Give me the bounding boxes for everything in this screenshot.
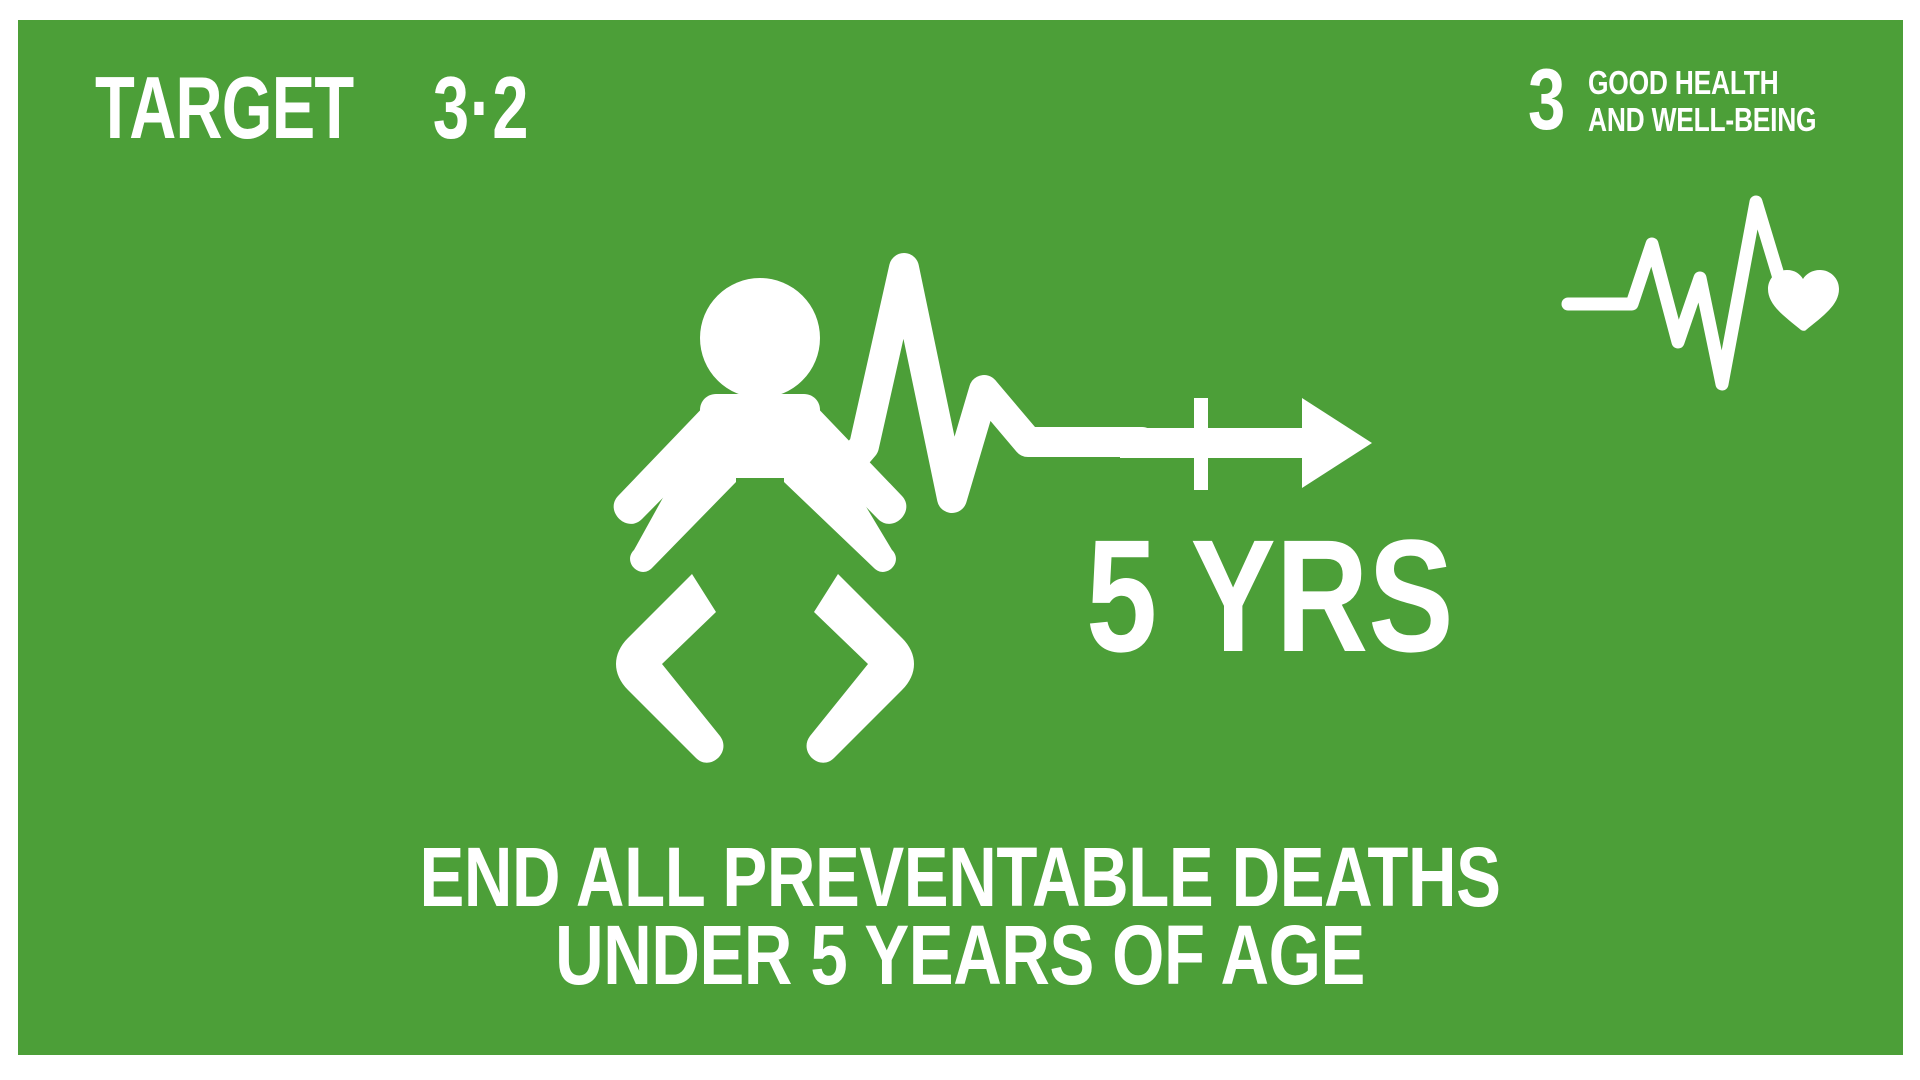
arrow-shaft <box>1120 428 1320 458</box>
target-heading: TARGET 3·2 <box>95 64 579 152</box>
sdg-goal-title-line2: AND WELL-BEING <box>1588 103 1816 136</box>
sdg-goal-number: 3 <box>1528 62 1569 138</box>
caption: END ALL PREVENTABLE DEATHS UNDER 5 YEARS… <box>0 838 1920 994</box>
arrow-head-icon <box>1302 398 1372 488</box>
baby-head-icon <box>700 278 820 398</box>
sdg-goal-title: GOOD HEALTH AND WELL-BEING <box>1588 66 1873 136</box>
poster-root: TARGET 3·2 3 GOOD HEALTH AND WELL-BEING <box>0 0 1920 1080</box>
baby-right-leg <box>807 574 914 763</box>
pulse-line-icon <box>828 268 1142 498</box>
target-number: 3·2 <box>387 64 529 152</box>
arrow-tick-mark <box>1194 398 1208 490</box>
baby-legs-icon <box>600 560 930 770</box>
caption-line-2: UNDER 5 YEARS OF AGE <box>192 916 1728 994</box>
sdg-badge: 3 GOOD HEALTH AND WELL-BEING <box>1528 62 1873 138</box>
heartbeat-heart-icon <box>1560 192 1840 392</box>
target-label: TARGET <box>95 64 353 152</box>
sdg-goal-title-line1: GOOD HEALTH <box>1588 66 1816 99</box>
caption-line-1: END ALL PREVENTABLE DEATHS <box>192 838 1728 916</box>
age-label: 5 YRS <box>1086 516 1454 676</box>
baby-left-leg <box>616 574 723 763</box>
